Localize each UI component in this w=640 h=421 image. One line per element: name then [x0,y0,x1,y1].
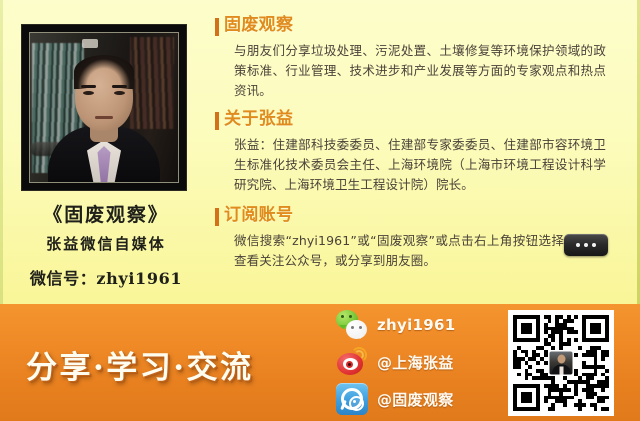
social-accounts-list: zhyi1961 @上海张益 @固废观察 [336,306,496,421]
account-subtitle: 张益微信自媒体 [0,233,212,254]
desk-lamp [82,39,98,48]
section-subscribe: 订阅账号 微信搜索“zhyi1961”或“固废观察”或点击右上角按钮选择查看关注… [212,206,640,271]
more-options-button[interactable] [564,234,608,256]
social-row-weibo[interactable]: @上海张益 [336,345,454,379]
account-wechat-id: 微信号：zhyi1961 [0,265,212,289]
social-label-weibo: @上海张益 [377,352,454,373]
bookshelf-right [130,37,174,129]
section-heading: 关于张益 [212,110,640,130]
portrait-mouth [95,116,113,119]
wechat-profile-card: 《固废观察》 张益微信自媒体 微信号：zhyi1961 固废观察 与朋友们分享垃… [0,0,640,421]
weibo-icon [336,346,368,378]
portrait-frame [22,25,186,190]
qr-center-avatar [549,351,574,376]
portrait-hair [74,55,134,89]
section-body-text: 与朋友们分享垃圾处理、污泥处置、土壤修复等环境保护领域的政策标准、行业管理、技术… [234,41,606,102]
social-row-tencent-weibo[interactable]: @固废观察 [336,382,454,416]
wechat-icon [336,309,368,341]
card-upper-area: 《固废观察》 张益微信自媒体 微信号：zhyi1961 固废观察 与朋友们分享垃… [0,0,640,304]
sections-column: 固废观察 与朋友们分享垃圾处理、污泥处置、土壤修复等环境保护领域的政策标准、行业… [212,0,640,304]
social-label-tencent-weibo: @固废观察 [377,389,454,410]
portrait-brow-right [112,85,127,88]
left-edge-strip [0,0,3,304]
portrait-eye-right [114,91,125,95]
section-guifei-guancha: 固废观察 与朋友们分享垃圾处理、污泥处置、土壤修复等环境保护领域的政策标准、行业… [212,16,640,101]
section-heading-text: 订阅账号 [224,205,293,225]
section-heading: 固废观察 [212,16,640,36]
heading-accent-bar [215,112,219,130]
portrait-brow-left [81,85,96,88]
profile-column: 《固废观察》 张益微信自媒体 微信号：zhyi1961 [0,0,212,304]
portrait-eye-left [83,91,94,95]
section-body-text: 张益：住建部科技委委员、住建部专家委委员、住建部市容环境卫生标准化技术委员会主任… [234,135,606,196]
footer-slogan: 分享·学习·交流 [26,342,253,387]
portrait-photo [29,32,179,183]
section-heading-text: 固废观察 [224,15,293,35]
section-about-zhangyi: 关于张益 张益：住建部科技委委员、住建部专家委委员、住建部市容环境卫生标准化技术… [212,110,640,195]
ellipsis-dot-icon [576,243,580,247]
account-title: 《固废观察》 [0,200,212,227]
social-row-wechat[interactable]: zhyi1961 [336,308,455,342]
ellipsis-dot-icon [592,243,596,247]
heading-accent-bar [215,208,219,226]
ellipsis-dot-icon [584,243,588,247]
section-heading-text: 关于张益 [224,109,293,129]
tencent-weibo-icon [336,383,368,415]
qr-code-container[interactable] [508,310,614,416]
heading-accent-bar [215,18,219,36]
section-heading: 订阅账号 [212,206,640,226]
social-label-wechat: zhyi1961 [377,316,455,334]
section-body-text: 微信搜索“zhyi1961”或“固废观察”或点击右上角按钮选择查看关注公众号，或… [234,231,564,272]
